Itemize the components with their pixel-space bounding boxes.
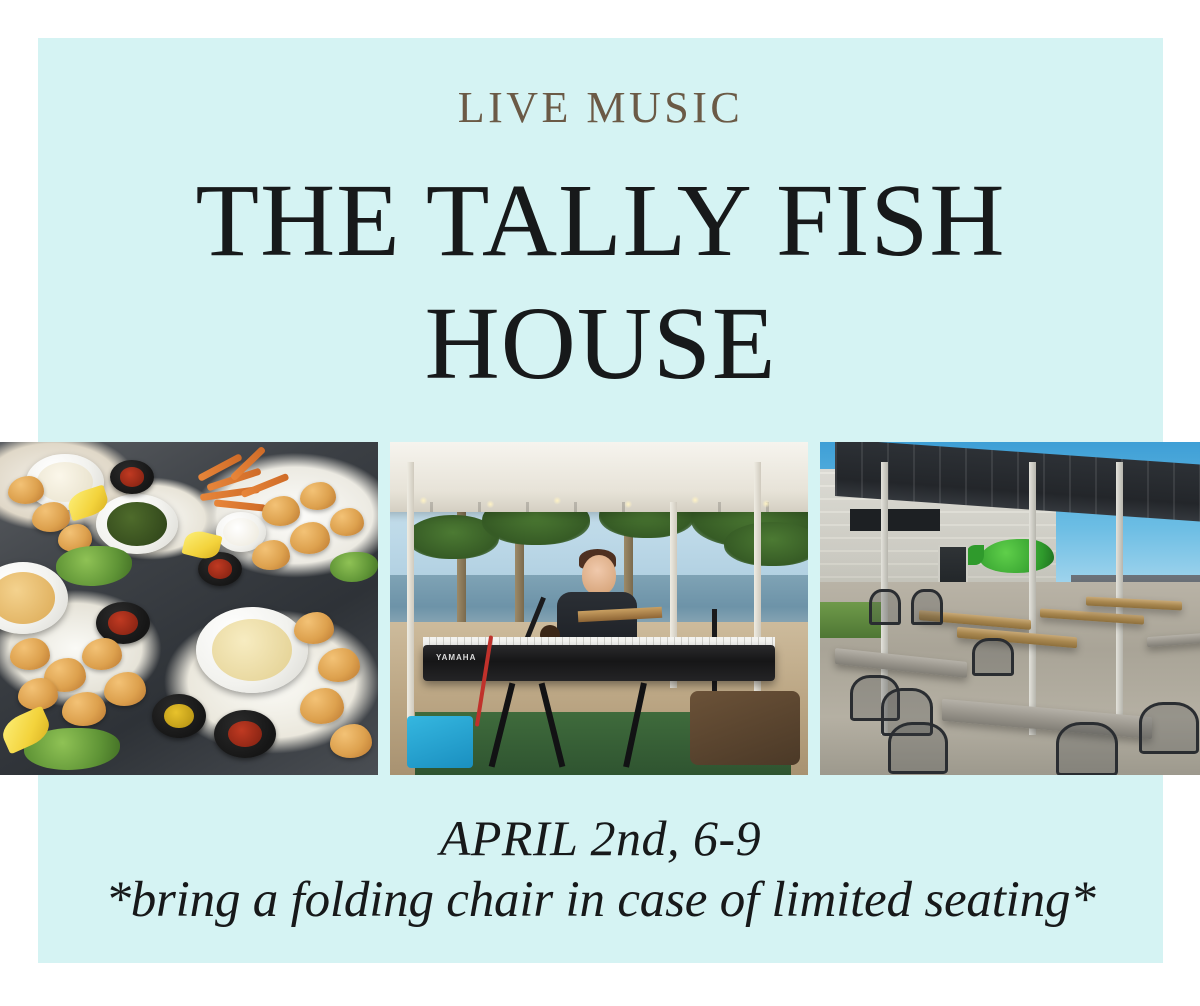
footer-section: APRIL 2nd, 6-9 *bring a folding chair in… xyxy=(38,775,1163,963)
poster: LIVE MUSIC THE TALLY FISH HOUSE xyxy=(0,0,1200,1006)
photo-gallery: YAMAHA xyxy=(0,442,1200,775)
eyebrow-live-music: LIVE MUSIC xyxy=(38,86,1163,130)
event-date-time: APRIL 2nd, 6-9 xyxy=(38,813,1163,863)
header-section: LIVE MUSIC THE TALLY FISH HOUSE xyxy=(38,38,1163,442)
musician-photo: YAMAHA xyxy=(390,442,808,775)
keyboard-brand-label: YAMAHA xyxy=(436,653,476,662)
page-title: THE TALLY FISH HOUSE xyxy=(38,160,1163,405)
seating-note: *bring a folding chair in case of limite… xyxy=(8,875,1193,926)
seafood-platter-photo xyxy=(0,442,378,775)
patio-photo xyxy=(820,442,1200,775)
